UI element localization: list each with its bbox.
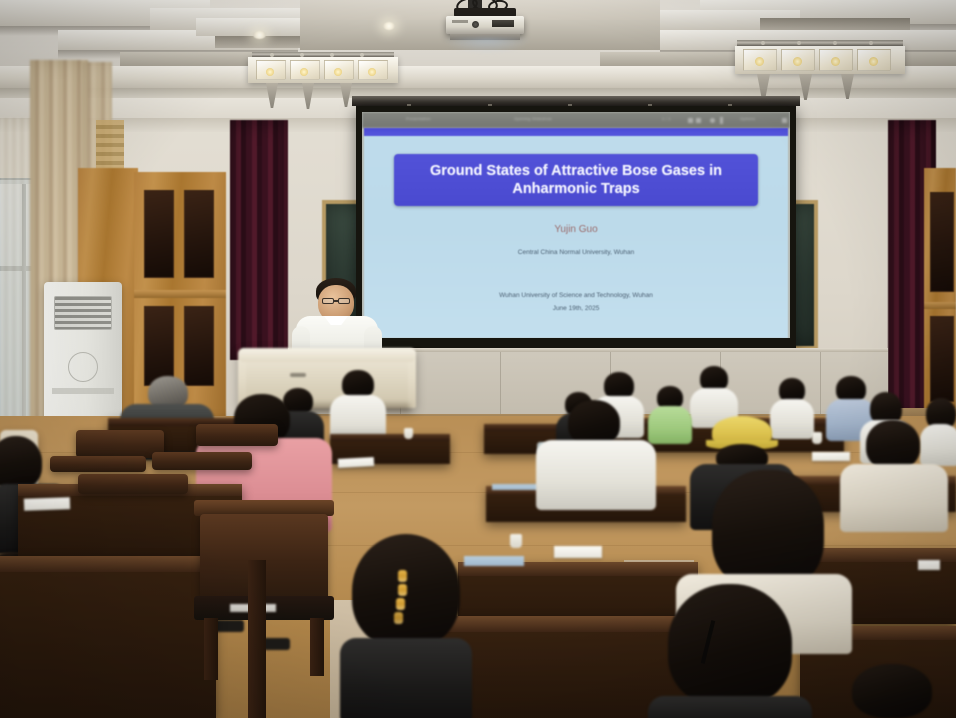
person — [330, 370, 386, 436]
paper-cup — [510, 534, 522, 548]
microphone — [290, 373, 306, 377]
chair — [50, 456, 146, 472]
slide-venue: Wuhan University of Science and Technolo… — [364, 292, 788, 299]
slide-affiliation: Central China Normal University, Wuhan — [364, 249, 788, 256]
slide: Ground States of Attractive Bose Gases i… — [364, 128, 788, 338]
paper-handout — [338, 457, 374, 468]
person-white-tee — [536, 400, 656, 508]
wainscot-seam — [500, 352, 501, 414]
slide-title-line2: Anharmonic Traps — [394, 181, 758, 198]
desk — [0, 556, 216, 718]
person-bun-hair — [340, 534, 472, 718]
viewer-left-label: Presentation — [406, 116, 476, 121]
downlight — [383, 22, 395, 30]
person-bottom-right — [836, 664, 956, 718]
slide-title-box: Ground States of Attractive Bose Gases i… — [394, 154, 758, 206]
presenter-glasses — [338, 298, 350, 304]
paper-handout — [24, 497, 70, 511]
window-curtain — [0, 118, 34, 438]
person-body — [840, 464, 948, 532]
viewer-center-label: Opening Slideshow — [514, 116, 604, 121]
slide-accent-bar — [364, 128, 788, 136]
stage-curtain-left — [230, 120, 288, 360]
screen-surface: Presentation Opening Slideshow 1 / 1 Opt… — [362, 112, 790, 338]
desk-monitor-glow — [464, 556, 524, 566]
projection-screen: Presentation Opening Slideshow 1 / 1 Opt… — [356, 106, 796, 348]
person-head — [852, 664, 932, 718]
hair-clip — [394, 612, 403, 624]
lecture-hall-screenshot: Presentation Opening Slideshow 1 / 1 Opt… — [0, 0, 956, 718]
air-conditioner-unit — [44, 282, 122, 432]
paper-handout — [918, 560, 940, 570]
person-cream-sweater — [840, 420, 948, 528]
chair-post — [248, 560, 266, 718]
slide-date: June 19th, 2025 — [364, 305, 788, 312]
slide-author: Yujin Guo — [364, 224, 788, 235]
chair — [196, 424, 278, 446]
person-head — [712, 470, 824, 590]
hair-clip — [398, 584, 407, 596]
wainscot-seam — [820, 352, 821, 414]
search-icon[interactable] — [710, 118, 715, 123]
hair-clip — [396, 598, 405, 610]
slide-title-line1: Ground States of Attractive Bose Gases i… — [394, 163, 758, 180]
zoom-out-icon[interactable] — [688, 118, 693, 123]
pdf-viewer-toolbar[interactable]: Presentation Opening Slideshow 1 / 1 Opt… — [362, 112, 790, 128]
ceiling-projector — [432, 0, 532, 48]
screen-mount-rail — [352, 96, 800, 106]
paper-cup — [812, 432, 822, 444]
person-right-foreground — [648, 584, 812, 718]
downlight — [253, 31, 266, 39]
person-head — [0, 436, 42, 490]
viewer-right-label: Options — [740, 116, 780, 121]
presenter-glasses-bridge — [334, 300, 338, 302]
chair — [152, 452, 252, 470]
wooden-door-right[interactable] — [924, 168, 956, 430]
chair — [78, 474, 188, 494]
presenter-glasses — [322, 298, 334, 304]
lectern-top — [238, 348, 416, 362]
person-body — [536, 440, 656, 510]
person-head — [668, 584, 792, 706]
person-body — [340, 638, 472, 718]
chandelier-right — [735, 40, 905, 102]
pointer-icon[interactable] — [720, 117, 723, 124]
zoom-in-icon[interactable] — [696, 118, 701, 123]
desk-monitor-glow — [492, 484, 538, 490]
close-icon[interactable] — [782, 118, 787, 123]
paper-cup — [404, 428, 413, 439]
hair-clip — [398, 570, 407, 582]
person-body — [648, 696, 812, 718]
person-head — [866, 420, 920, 470]
chair — [76, 430, 164, 458]
paper-handout — [554, 546, 602, 558]
